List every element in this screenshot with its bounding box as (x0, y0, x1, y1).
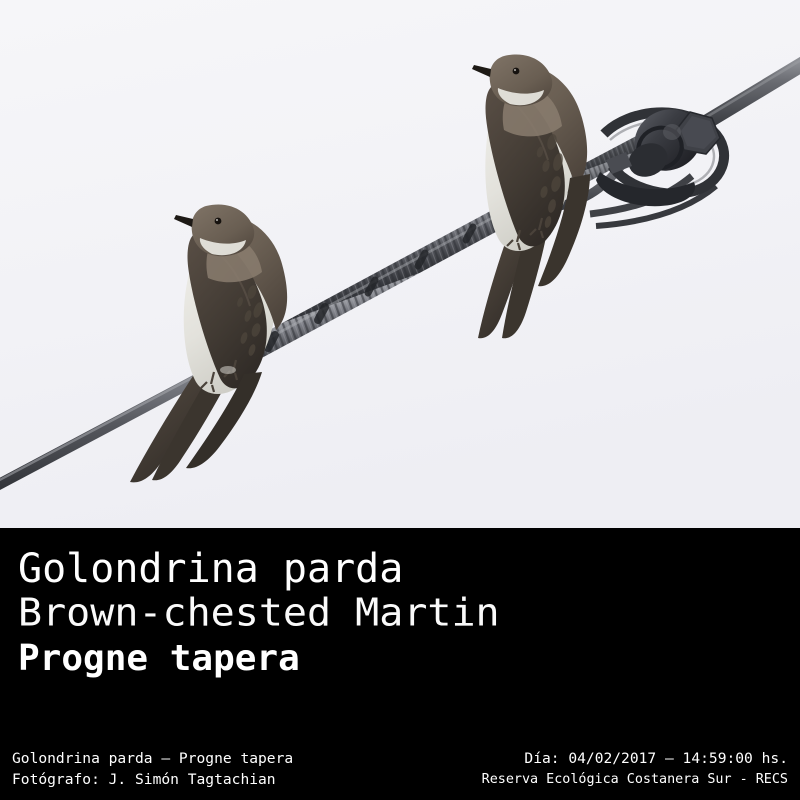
footer-location-line: Reserva Ecológica Costanera Sur - RECS (482, 769, 788, 790)
scientific-name: Progne tapera (18, 638, 638, 680)
left-bird-eye (215, 218, 222, 225)
left-bird-eye-glint (216, 219, 218, 221)
common-name-english: Brown-chested Martin (18, 592, 638, 634)
right-bird-eye (513, 68, 520, 75)
footer-bar: Golondrina parda — Progne tapera Fotógra… (0, 736, 800, 800)
bird-photo-card: Golondrina parda Brown-chested Martin Pr… (0, 0, 800, 800)
clamp-highlight (663, 124, 681, 140)
footer-right-column: Día: 04/02/2017 — 14:59:00 hs. Reserva E… (482, 748, 788, 790)
right-bird-eye-glint (514, 69, 516, 71)
photo-scene (0, 0, 800, 528)
footer-photographer-line: Fotógrafo: J. Simón Tagtachian (12, 769, 293, 790)
footer-left-column: Golondrina parda — Progne tapera Fotógra… (12, 748, 293, 790)
title-panel: Golondrina parda Brown-chested Martin Pr… (0, 528, 800, 736)
photograph (0, 0, 800, 528)
footer-date-line: Día: 04/02/2017 — 14:59:00 hs. (482, 748, 788, 769)
species-name-block: Golondrina parda Brown-chested Martin Pr… (18, 534, 638, 680)
common-name-spanish: Golondrina parda (18, 546, 638, 592)
left-bird-undertail-patch (220, 366, 236, 374)
footer-species-line: Golondrina parda — Progne tapera (12, 748, 293, 769)
